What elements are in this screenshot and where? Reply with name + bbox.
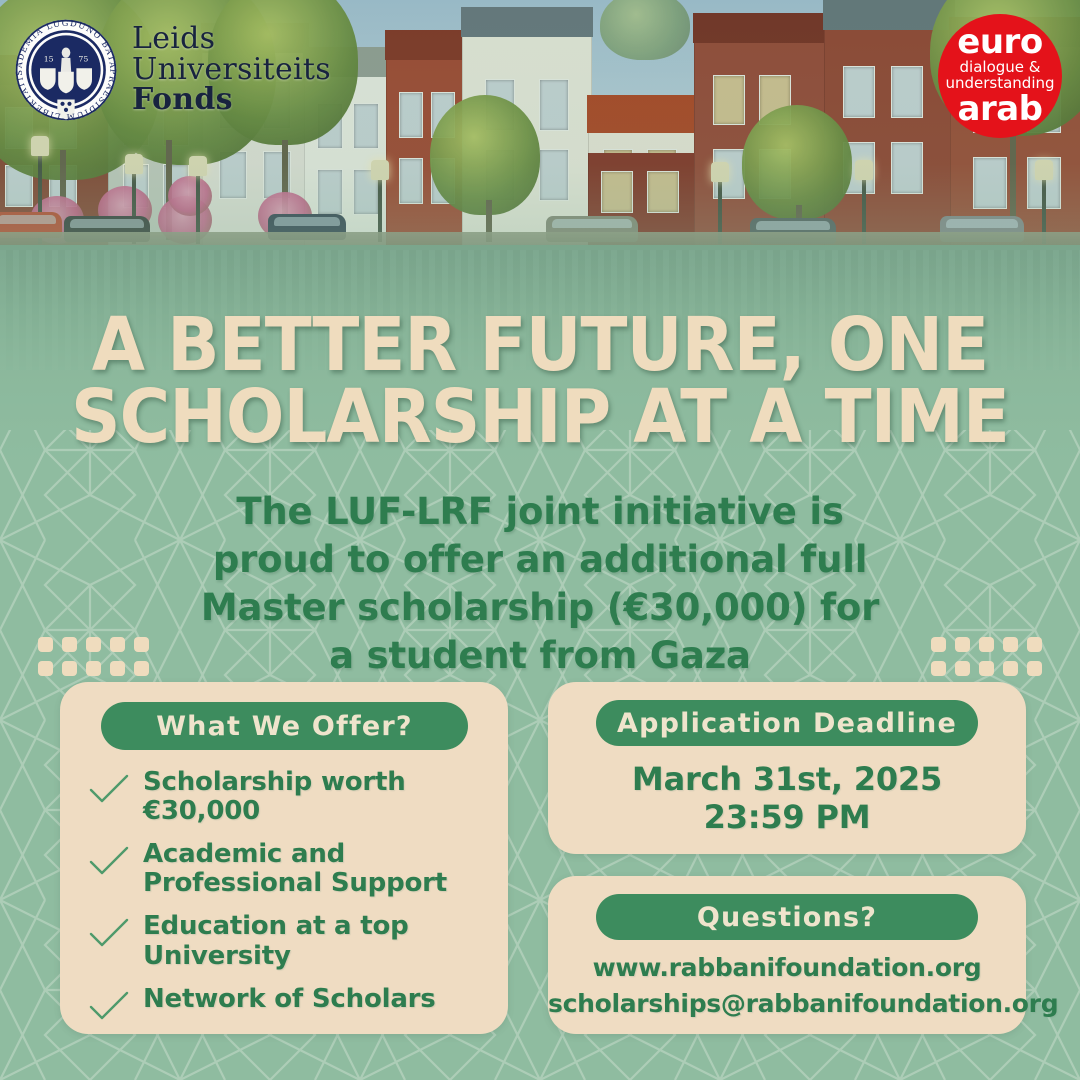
offer-item-1-line-2: Professional Support: [143, 869, 447, 898]
leiden-university-seal-icon: 15 75 ACADEMIA LUGDUNO BATAVA PRAESIDIUM…: [14, 18, 118, 122]
offer-item-0-line-2: €30,000: [143, 797, 406, 826]
questions-card: Questions? www.rabbanifoundation.org sch…: [548, 876, 1026, 1034]
subtitle-line-3: Master scholarship (€30,000) for: [90, 584, 990, 632]
list-item: Academic and Professional Support: [88, 840, 492, 898]
euro-arab-logo: euro dialogue & understanding arab: [938, 14, 1062, 138]
svg-text:15: 15: [44, 54, 54, 63]
svg-text:75: 75: [78, 54, 88, 63]
poster-subtitle: The LUF-LRF joint initiative is proud to…: [90, 488, 990, 680]
subtitle-line-2: proud to offer an additional full: [90, 536, 990, 584]
offer-item-2-line-1: Education at a top: [143, 912, 409, 941]
dot-decoration-right: [931, 637, 1042, 676]
deadline-date: March 31st, 2025: [548, 760, 1026, 798]
questions-body: www.rabbanifoundation.org scholarships@r…: [548, 950, 1026, 1021]
check-icon: [88, 917, 130, 949]
poster-headline: A BETTER FUTURE, ONE SCHOLARSHIP AT A TI…: [38, 310, 1042, 454]
offer-item-0-line-1: Scholarship worth: [143, 768, 406, 797]
questions-title: Questions?: [596, 894, 978, 940]
luf-line-2: Universiteits: [132, 55, 331, 86]
offer-item-2-line-2: University: [143, 942, 409, 971]
offer-item-3-line-1: Network of Scholars: [143, 985, 436, 1014]
luf-logo: 15 75 ACADEMIA LUGDUNO BATAVA PRAESIDIUM…: [14, 18, 331, 122]
offer-item-1-line-1: Academic and: [143, 840, 447, 869]
application-deadline-card: Application Deadline March 31st, 2025 23…: [548, 682, 1026, 854]
luf-line-1: Leids: [132, 24, 331, 55]
euro-arab-line-4: arab: [958, 92, 1043, 126]
check-icon: [88, 845, 130, 877]
euro-arab-line-1: euro: [957, 26, 1042, 59]
what-we-offer-card: What We Offer? Scholarship worth €30,000…: [60, 682, 508, 1034]
list-item-text: Academic and Professional Support: [143, 840, 447, 898]
list-item-text: Education at a top University: [143, 912, 409, 970]
list-item-text: Scholarship worth €30,000: [143, 768, 406, 826]
check-icon: [88, 990, 130, 1022]
list-item-text: Network of Scholars: [143, 985, 436, 1014]
luf-line-3: Fonds: [132, 85, 331, 116]
dot-decoration-left: [38, 637, 149, 676]
headline-line-1: A BETTER FUTURE, ONE: [38, 310, 1042, 382]
what-we-offer-title: What We Offer?: [101, 702, 468, 750]
email-link[interactable]: scholarships@rabbanifoundation.org: [548, 986, 1026, 1022]
application-deadline-title: Application Deadline: [596, 700, 978, 746]
check-icon: [88, 773, 130, 805]
luf-wordmark: Leids Universiteits Fonds: [132, 24, 331, 116]
subtitle-line-4: a student from Gaza: [90, 632, 990, 680]
scholarship-poster: 15 75 ACADEMIA LUGDUNO BATAVA PRAESIDIUM…: [0, 0, 1080, 1080]
application-deadline-body: March 31st, 2025 23:59 PM: [548, 760, 1026, 837]
headline-line-2: SCHOLARSHIP AT A TIME: [38, 382, 1042, 454]
list-item: Scholarship worth €30,000: [88, 768, 492, 826]
deadline-time: 23:59 PM: [548, 798, 1026, 836]
list-item: Education at a top University: [88, 912, 492, 970]
website-link[interactable]: www.rabbanifoundation.org: [548, 950, 1026, 986]
list-item: Network of Scholars: [88, 985, 492, 1022]
subtitle-line-1: The LUF-LRF joint initiative is: [90, 488, 990, 536]
offer-list: Scholarship worth €30,000 Academic and P…: [88, 768, 492, 1036]
